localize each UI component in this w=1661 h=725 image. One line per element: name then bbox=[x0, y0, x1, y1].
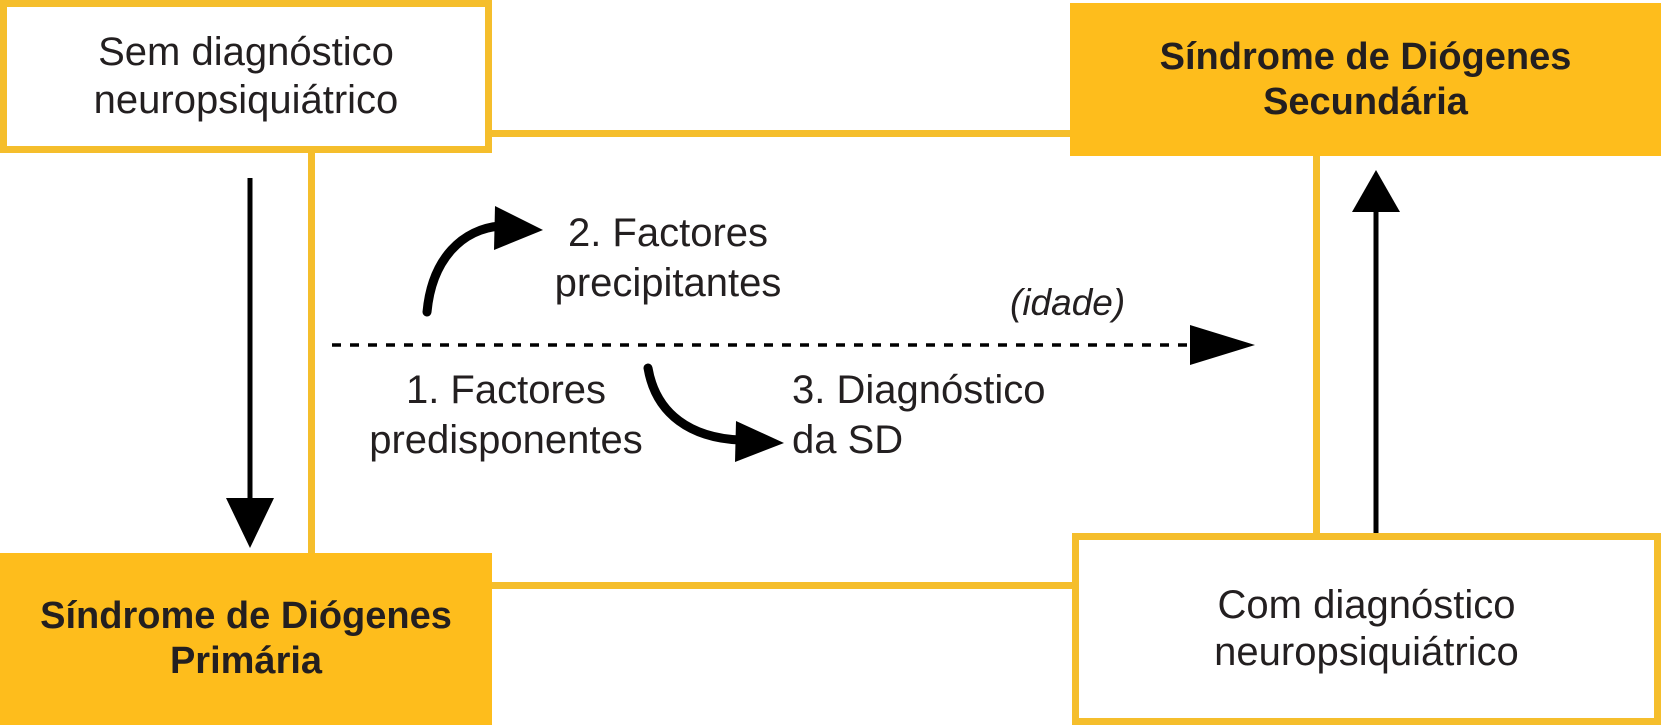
connector-left-vertical bbox=[308, 146, 315, 558]
label-step-2-factores-precipitantes: 2. Factores precipitantes bbox=[498, 208, 838, 308]
diagram-canvas: Sem diagnóstico neuropsiquiátrico Síndro… bbox=[0, 0, 1661, 725]
label-idade-axis-caption: (idade) bbox=[1010, 282, 1125, 324]
timeline-axis-arrow bbox=[332, 325, 1255, 365]
box-top-right-label: Síndrome de Diógenes Secundária bbox=[1160, 35, 1572, 125]
box-bottom-left-label: Síndrome de Diógenes Primária bbox=[40, 594, 452, 684]
connector-top-horizontal bbox=[486, 130, 1074, 137]
arrow-down-left bbox=[226, 178, 274, 548]
connector-right-vertical bbox=[1313, 150, 1320, 538]
box-sindrome-diogenes-primaria[interactable]: Síndrome de Diógenes Primária bbox=[0, 553, 492, 725]
box-bottom-right-label: Com diagnóstico neuropsiquiátrico bbox=[1214, 582, 1519, 676]
label-step-3-diagnostico-da-sd: 3. Diagnóstico da SD bbox=[792, 365, 1122, 465]
box-sem-diagnostico-neuropsiquiatrico[interactable]: Sem diagnóstico neuropsiquiátrico bbox=[0, 0, 492, 153]
arrow-up-right bbox=[1352, 170, 1400, 540]
box-top-left-label: Sem diagnóstico neuropsiquiátrico bbox=[94, 29, 399, 123]
box-sindrome-diogenes-secundaria[interactable]: Síndrome de Diógenes Secundária bbox=[1070, 3, 1661, 156]
connector-bottom-horizontal bbox=[486, 582, 1076, 589]
box-com-diagnostico-neuropsiquiatrico[interactable]: Com diagnóstico neuropsiquiátrico bbox=[1072, 533, 1661, 725]
label-step-1-factores-predisponentes: 1. Factores predisponentes bbox=[330, 365, 682, 465]
